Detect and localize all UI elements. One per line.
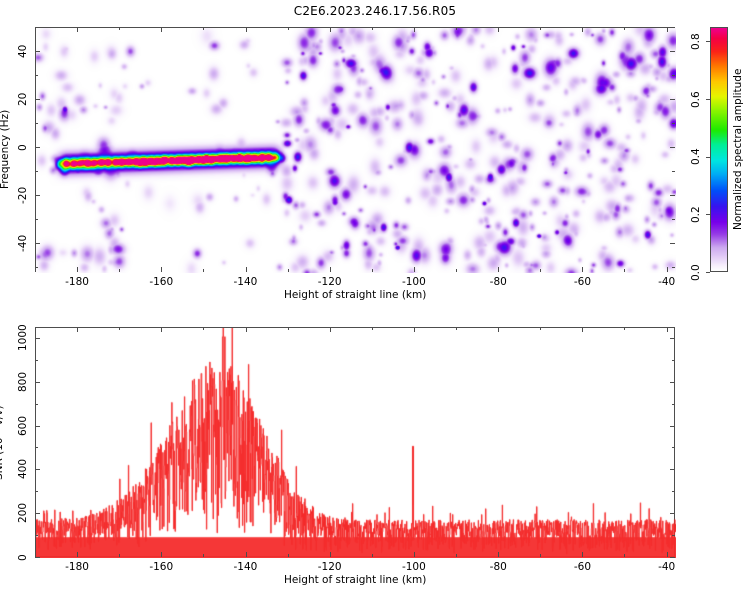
y-tick [35, 338, 40, 339]
spectrogram-panel [35, 27, 675, 272]
y-tick [35, 513, 40, 514]
spectrogram-image [36, 28, 676, 273]
x-tick [372, 269, 373, 272]
colorbar-tick-label: 0.6 [690, 91, 702, 108]
colorbar-tick-label: 0.0 [690, 264, 702, 281]
y-tick [670, 557, 675, 558]
y-tick [35, 404, 38, 405]
y-tick [672, 447, 675, 448]
x-tick [161, 27, 162, 32]
y-tick-label: 400 [17, 459, 29, 479]
spectrogram-yaxis-label: Frequency (Hz) [0, 110, 11, 189]
colorbar-tick-label: 0.2 [690, 206, 702, 223]
y-tick [35, 195, 40, 196]
x-tick [203, 327, 204, 330]
x-tick [35, 327, 36, 330]
x-tick [414, 27, 415, 32]
y-tick [35, 557, 40, 558]
y-tick [35, 27, 38, 28]
x-tick-label: -60 [574, 276, 591, 288]
x-tick [498, 327, 499, 332]
x-tick [203, 554, 204, 557]
x-tick [540, 327, 541, 330]
y-tick [672, 404, 675, 405]
y-tick [35, 147, 40, 148]
y-tick [672, 27, 675, 28]
x-tick [246, 552, 247, 557]
y-tick [672, 360, 675, 361]
x-tick-label: -100 [402, 276, 426, 288]
x-tick-label: -40 [658, 276, 675, 288]
x-tick [288, 269, 289, 272]
y-tick [35, 123, 38, 124]
snr-trace [36, 328, 676, 558]
x-tick [119, 27, 120, 30]
x-tick [414, 552, 415, 557]
x-tick [119, 554, 120, 557]
y-tick-label: -40 [17, 235, 29, 252]
figure-title: C2E6.2023.246.17.56.R05 [0, 4, 750, 18]
x-tick [77, 552, 78, 557]
y-tick-label: 200 [17, 503, 29, 523]
x-tick-label: -140 [234, 276, 258, 288]
y-tick [672, 267, 675, 268]
x-tick [624, 269, 625, 272]
x-tick [582, 267, 583, 272]
colorbar-tick-label: 0.4 [690, 149, 702, 166]
x-tick [119, 327, 120, 330]
x-tick-label: -100 [402, 561, 426, 573]
y-tick [672, 75, 675, 76]
y-tick [670, 195, 675, 196]
y-tick-label: 0 [17, 554, 29, 561]
x-tick [414, 267, 415, 272]
x-tick-label: -120 [318, 561, 342, 573]
y-tick-label: -20 [17, 186, 29, 203]
colorbar-tick [706, 272, 710, 273]
x-tick [288, 327, 289, 330]
x-tick [119, 269, 120, 272]
y-tick [670, 99, 675, 100]
x-tick [77, 267, 78, 272]
x-tick-label: -80 [490, 276, 507, 288]
x-tick [582, 327, 583, 332]
x-tick-label: -120 [318, 276, 342, 288]
x-tick [414, 327, 415, 332]
y-tick [35, 382, 40, 383]
y-tick [35, 171, 38, 172]
x-tick [540, 27, 541, 30]
x-tick [456, 327, 457, 330]
y-tick-label: 1000 [17, 325, 29, 352]
x-tick [498, 27, 499, 32]
colorbar-tick [706, 157, 710, 158]
x-tick [582, 27, 583, 32]
x-tick [161, 327, 162, 332]
x-tick-label: -60 [574, 561, 591, 573]
x-tick [330, 267, 331, 272]
x-tick [246, 267, 247, 272]
y-tick-label: 600 [17, 416, 29, 436]
y-tick [35, 426, 40, 427]
y-tick [670, 426, 675, 427]
x-tick [77, 27, 78, 32]
colorbar-tick-label: 0.8 [690, 33, 702, 50]
y-tick [35, 360, 38, 361]
x-tick [667, 267, 668, 272]
x-tick [498, 267, 499, 272]
x-tick [203, 27, 204, 30]
y-tick [672, 219, 675, 220]
y-tick [35, 219, 38, 220]
y-tick [35, 243, 40, 244]
x-tick-label: -160 [149, 561, 173, 573]
x-tick [456, 269, 457, 272]
snr-xaxis-label: Height of straight line (km) [284, 574, 426, 586]
y-tick [35, 491, 38, 492]
x-tick-label: -180 [65, 276, 89, 288]
colorbar [710, 27, 728, 272]
x-tick [161, 267, 162, 272]
x-tick-label: -160 [149, 276, 173, 288]
x-tick [540, 269, 541, 272]
y-tick [670, 338, 675, 339]
y-tick-label: 800 [17, 372, 29, 392]
y-tick [672, 535, 675, 536]
x-tick [667, 27, 668, 32]
y-tick [672, 491, 675, 492]
spectrogram-xaxis-label: Height of straight line (km) [284, 289, 426, 301]
x-tick [77, 327, 78, 332]
y-tick [35, 51, 40, 52]
x-tick [330, 27, 331, 32]
y-tick [670, 243, 675, 244]
x-tick [372, 27, 373, 30]
y-tick [35, 267, 38, 268]
x-tick [330, 327, 331, 332]
y-tick [670, 513, 675, 514]
colorbar-tick [706, 41, 710, 42]
y-tick [670, 382, 675, 383]
x-tick [456, 554, 457, 557]
x-tick-label: -140 [234, 561, 258, 573]
y-tick-label: 20 [17, 92, 29, 105]
y-tick [35, 469, 40, 470]
x-tick [203, 269, 204, 272]
x-tick [456, 27, 457, 30]
y-tick-label: 40 [17, 44, 29, 57]
y-tick [670, 469, 675, 470]
y-tick [35, 535, 38, 536]
x-tick [667, 552, 668, 557]
x-tick [498, 552, 499, 557]
x-tick [35, 269, 36, 272]
x-tick [540, 554, 541, 557]
x-tick [624, 554, 625, 557]
x-tick [246, 27, 247, 32]
x-tick [624, 27, 625, 30]
snr-panel [35, 327, 675, 557]
y-tick [670, 147, 675, 148]
x-tick-label: -40 [658, 561, 675, 573]
x-tick [667, 327, 668, 332]
x-tick [582, 552, 583, 557]
x-tick [372, 327, 373, 330]
colorbar-title: Normalized spectral amplitude [732, 69, 744, 230]
y-tick [35, 75, 38, 76]
x-tick [330, 552, 331, 557]
colorbar-tick [706, 214, 710, 215]
colorbar-gradient [711, 28, 727, 271]
x-tick [372, 554, 373, 557]
x-tick-label: -80 [490, 561, 507, 573]
y-tick [672, 123, 675, 124]
colorbar-tick [706, 99, 710, 100]
x-tick [624, 327, 625, 330]
y-tick [672, 171, 675, 172]
y-tick-label: 0 [17, 144, 29, 151]
snr-yaxis-label: SNR (10 * v/v) [0, 405, 5, 480]
x-tick [246, 327, 247, 332]
x-tick [288, 27, 289, 30]
figure-root: C2E6.2023.246.17.56.R05 -180-160-140-120… [0, 0, 750, 600]
x-tick [161, 552, 162, 557]
y-tick [35, 99, 40, 100]
x-tick-label: -180 [65, 561, 89, 573]
x-tick [288, 554, 289, 557]
y-tick [35, 447, 38, 448]
y-tick [670, 51, 675, 52]
